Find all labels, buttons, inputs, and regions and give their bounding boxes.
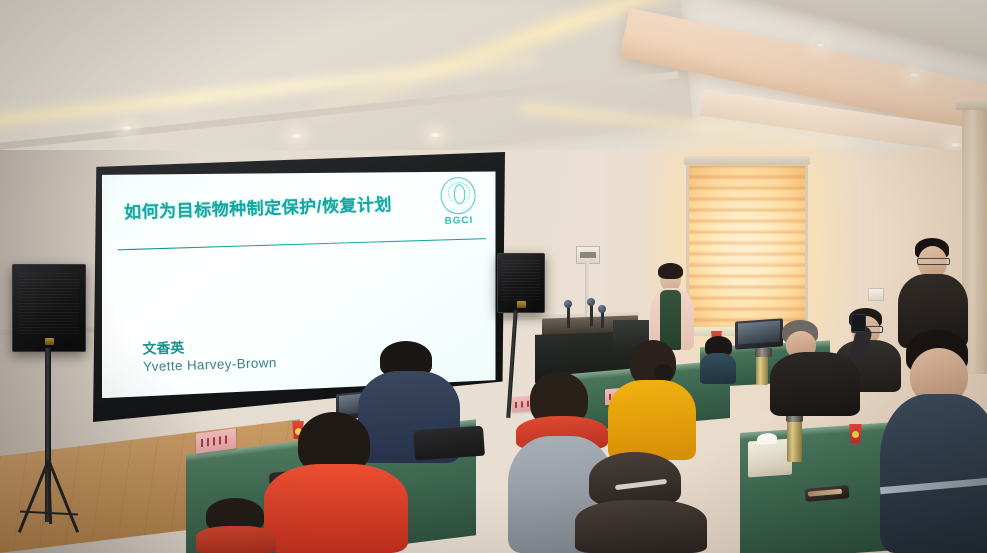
baseball-cap-icon [589, 452, 681, 506]
slide-title: 如何为目标物种制定保护/恢复计划 [123, 191, 392, 224]
speaker-badge-icon [517, 301, 526, 308]
microphone-head-icon [587, 298, 595, 306]
window-blinds[interactable] [689, 166, 805, 328]
microphone-head-icon [598, 305, 606, 313]
downlight-icon [949, 142, 962, 148]
wall-switch[interactable] [868, 288, 884, 301]
conference-room-screenshot: 如何为目标物种制定保护/恢复计划 文香英 Yvette Harvey-Brown… [0, 0, 987, 553]
wall-conduit [585, 262, 589, 320]
torso [575, 500, 707, 553]
torso [700, 353, 736, 384]
downlight-icon [814, 42, 827, 48]
person-attendee-back-laptop [700, 336, 736, 384]
glasses-icon [917, 258, 950, 265]
person-attendee-dark-right [770, 320, 860, 416]
microphone-stand[interactable] [590, 304, 593, 326]
tissue-box [748, 438, 792, 477]
bgci-logo: BGCI [433, 176, 484, 227]
torso [264, 464, 408, 553]
bgci-emblem-icon [440, 177, 476, 215]
torso [770, 352, 860, 416]
pa-speaker-right [497, 253, 545, 313]
downlight-icon [429, 132, 442, 138]
slide-author-chinese: 文香英 [142, 336, 184, 358]
microphone-head-icon [564, 300, 572, 308]
thermos-flask [787, 420, 802, 462]
blind-headrail[interactable] [684, 156, 810, 165]
downlight-icon [120, 125, 133, 131]
person-attendee-far-left [196, 498, 276, 553]
person-attendee-red-coat [264, 412, 408, 553]
window [686, 163, 808, 331]
name-placard-text [201, 435, 232, 447]
microphone-stand[interactable] [567, 306, 570, 328]
slide-divider-rule [117, 238, 486, 251]
slide-author-english: Yvette Harvey-Brown [143, 356, 277, 376]
speaker-grille [19, 272, 79, 334]
person-attendee-yellow-jacket [608, 340, 696, 460]
speaker-badge-icon [45, 338, 54, 345]
pa-speaker-left [12, 264, 86, 352]
ceiling [0, 0, 987, 150]
bgci-logo-text: BGCI [434, 214, 484, 227]
person-attendee-cap [575, 452, 707, 553]
person-attendee-blue-foreground [888, 330, 987, 553]
person-presenter-woman-standing [648, 266, 696, 350]
chair-back [413, 426, 485, 461]
hair [658, 263, 683, 279]
hair-bun [654, 364, 673, 381]
downlight-icon [908, 72, 921, 78]
wall-pillar-cap [956, 100, 987, 110]
torso [880, 394, 987, 553]
torso [608, 380, 696, 460]
tissue-sheet [757, 433, 777, 445]
speaker-grille [502, 259, 541, 301]
downlight-icon [290, 133, 303, 139]
thermos-flask-rear [756, 355, 768, 385]
torso [196, 526, 276, 553]
